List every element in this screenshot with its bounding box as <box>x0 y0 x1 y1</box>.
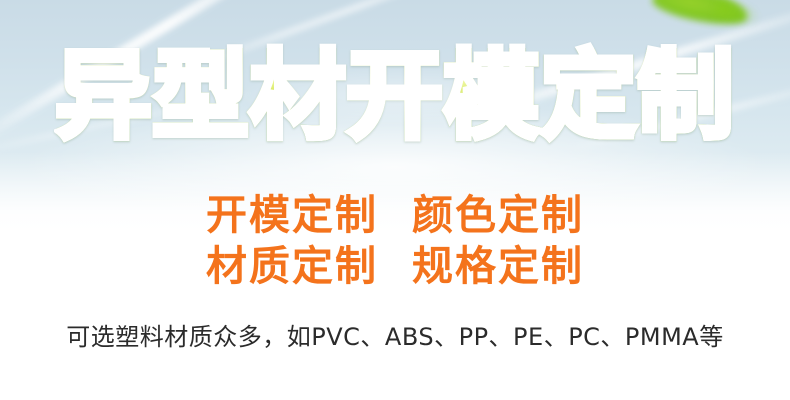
feature-list: 开模定制颜色定制 材质定制规格定制 <box>0 190 790 292</box>
feature-item-spec-custom: 规格定制 <box>412 241 584 292</box>
material-note: 可选塑料材质众多，如PVC、ABS、PP、PE、PC、PMMA等 <box>0 320 790 354</box>
feature-row: 开模定制颜色定制 <box>0 190 790 241</box>
headline-container: 异型材开模定制 <box>0 48 790 144</box>
feature-item-material-custom: 材质定制 <box>206 241 378 292</box>
promo-banner: 异型材开模定制 开模定制颜色定制 材质定制规格定制 可选塑料材质众多，如PVC、… <box>0 0 790 400</box>
page-title: 异型材开模定制 <box>56 48 735 144</box>
feature-item-color-custom: 颜色定制 <box>412 190 584 241</box>
feature-row: 材质定制规格定制 <box>0 241 790 292</box>
feature-item-mold-custom: 开模定制 <box>206 190 378 241</box>
